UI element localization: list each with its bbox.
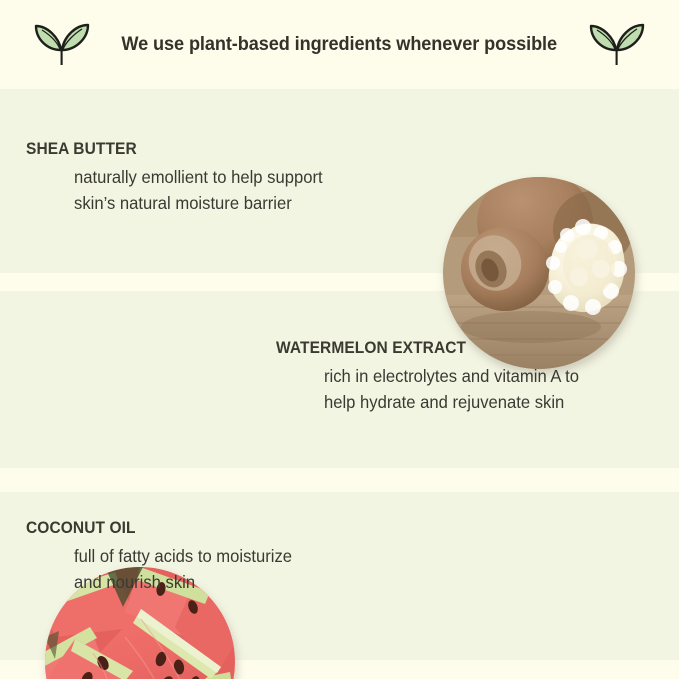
ingredient-title: SHEA BUTTER: [26, 140, 402, 159]
ingredient-description: naturally emollient to help support skin…: [74, 165, 408, 216]
ingredient-title: WATERMELON EXTRACT: [276, 339, 633, 358]
ingredient-section-coconut-oil: COCONUT OIL full of fatty acids to moist…: [0, 479, 679, 679]
sprout-leaf-icon: [33, 17, 91, 72]
description-line: naturally emollient to help support: [74, 165, 408, 191]
ingredient-section-shea-butter: SHEA BUTTER naturally emollient to help …: [0, 89, 679, 279]
header-banner: We use plant-based ingredients whenever …: [0, 0, 679, 89]
ingredient-description: full of fatty acids to moisturize and no…: [74, 544, 408, 595]
ingredient-title: COCONUT OIL: [26, 519, 402, 538]
header-title: We use plant-based ingredients whenever …: [122, 33, 558, 56]
ingredient-section-watermelon-extract: WATERMELON EXTRACT rich in electrolytes …: [0, 279, 679, 479]
shea-butter-text-block: SHEA BUTTER naturally emollient to help …: [26, 140, 426, 216]
sprout-leaf-icon: [588, 17, 646, 72]
description-line: skin’s natural moisture barrier: [74, 191, 408, 217]
coconut-oil-text-block: COCONUT OIL full of fatty acids to moist…: [26, 519, 426, 595]
watermelon-text-block: WATERMELON EXTRACT rich in electrolytes …: [276, 339, 656, 415]
description-line: rich in electrolytes and vitamin A to: [324, 364, 639, 390]
ingredient-infographic: We use plant-based ingredients whenever …: [0, 0, 679, 679]
description-line: and nourish skin: [74, 570, 408, 596]
description-line: help hydrate and rejuvenate skin: [324, 390, 639, 416]
ingredient-description: rich in electrolytes and vitamin A to he…: [324, 364, 639, 415]
description-line: full of fatty acids to moisturize: [74, 544, 408, 570]
